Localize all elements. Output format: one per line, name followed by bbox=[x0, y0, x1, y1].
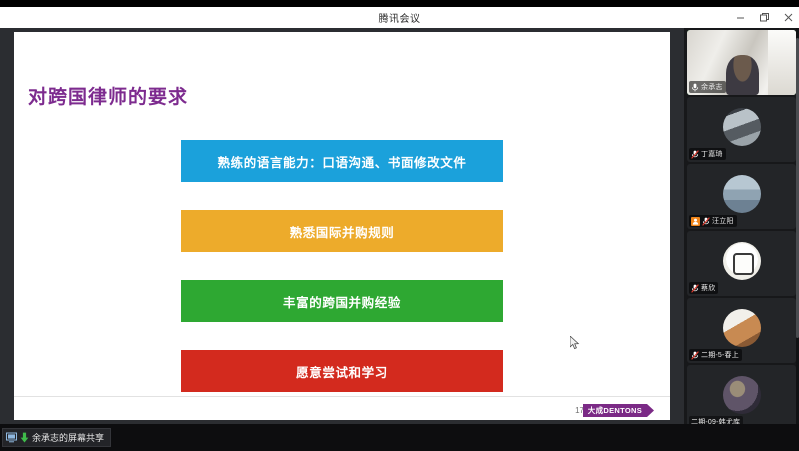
mouse-cursor bbox=[570, 336, 580, 351]
mic-muted-icon bbox=[702, 217, 710, 226]
slide-bar-list: 熟练的语言能力：口语沟通、书面修改文件 熟悉国际并购规则 丰富的跨国并购经验 愿… bbox=[181, 140, 503, 392]
slide-bar-1: 熟练的语言能力：口语沟通、书面修改文件 bbox=[181, 140, 503, 182]
slide-footer-divider bbox=[14, 396, 670, 397]
slide-bar-2-label: 熟悉国际并购规则 bbox=[290, 222, 395, 241]
close-icon[interactable] bbox=[782, 11, 795, 24]
slide-bar-4-label: 愿意尝试和学习 bbox=[296, 362, 388, 381]
participant-tile-4[interactable]: 蔡欣 bbox=[687, 231, 796, 296]
video-background bbox=[768, 30, 796, 95]
participant-avatar-3 bbox=[723, 175, 761, 213]
taskbar-item-label: 余承志的屏幕共享 bbox=[32, 431, 104, 444]
participant-name-chip-2: 丁嘉琦 bbox=[689, 148, 726, 160]
meeting-body: 对跨国律师的要求 熟练的语言能力：口语沟通、书面修改文件 熟悉国际并购规则 丰富… bbox=[0, 28, 799, 424]
os-taskbar: 余承志的屏幕共享 bbox=[0, 424, 799, 451]
participant-name-chip-1: 余承志 bbox=[689, 81, 726, 93]
shared-screen-area[interactable]: 对跨国律师的要求 熟练的语言能力：口语沟通、书面修改文件 熟悉国际并购规则 丰富… bbox=[0, 28, 684, 424]
mic-muted-icon bbox=[691, 150, 699, 159]
participant-name-chip-4: 蔡欣 bbox=[689, 282, 718, 294]
slide-bar-1-label: 熟练的语言能力：口语沟通、书面修改文件 bbox=[218, 152, 467, 171]
taskbar-item-screenshare[interactable]: 余承志的屏幕共享 bbox=[2, 428, 111, 447]
participant-tile-6[interactable]: 二期-09-韩尤库 bbox=[687, 365, 796, 424]
host-badge-icon bbox=[691, 217, 700, 226]
participant-name-3: 汪立阳 bbox=[712, 216, 734, 226]
participant-name-1: 余承志 bbox=[701, 82, 723, 92]
slide-bar-2: 熟悉国际并购规则 bbox=[181, 210, 503, 252]
participant-name-chip-3: 汪立阳 bbox=[689, 215, 737, 227]
slide-bar-4: 愿意尝试和学习 bbox=[181, 350, 503, 392]
participant-name-5: 二期-5-春上 bbox=[701, 350, 739, 360]
mic-muted-icon bbox=[691, 351, 699, 360]
participant-name-chip-6: 二期-09-韩尤库 bbox=[689, 416, 743, 424]
participant-tile-5[interactable]: 二期-5-春上 bbox=[687, 298, 796, 363]
participant-avatar-6 bbox=[723, 376, 761, 414]
screen-root: 腾讯会议 对跨国律师的要求 bbox=[0, 0, 799, 451]
slide-title: 对跨国律师的要求 bbox=[28, 82, 188, 109]
participant-tile-3[interactable]: 汪立阳 bbox=[687, 164, 796, 229]
share-arrow-icon bbox=[20, 432, 29, 443]
dentons-logo: 大成DENTONS bbox=[583, 404, 654, 417]
mic-muted-icon bbox=[691, 284, 699, 293]
mic-muted-icon bbox=[691, 83, 699, 92]
participant-avatar-2 bbox=[723, 108, 761, 146]
window-controls bbox=[734, 7, 795, 28]
window-titlebar: 腾讯会议 bbox=[0, 7, 799, 28]
participant-name-2: 丁嘉琦 bbox=[701, 149, 723, 159]
presentation-slide: 对跨国律师的要求 熟练的语言能力：口语沟通、书面修改文件 熟悉国际并购规则 丰富… bbox=[14, 32, 670, 420]
slide-page-number: 17 bbox=[575, 406, 584, 415]
participant-name-6: 二期-09-韩尤库 bbox=[691, 417, 740, 424]
participant-tile-1[interactable]: 余承志 bbox=[687, 30, 796, 95]
participant-name-chip-5: 二期-5-春上 bbox=[689, 349, 742, 361]
slide-bar-3-label: 丰富的跨国并购经验 bbox=[283, 292, 401, 311]
minimize-icon[interactable] bbox=[734, 11, 747, 24]
participant-avatar-4 bbox=[723, 242, 761, 280]
restore-icon[interactable] bbox=[758, 11, 771, 24]
participant-rail[interactable]: 余承志 丁嘉琦 bbox=[684, 28, 799, 424]
participant-avatar-5 bbox=[723, 309, 761, 347]
participant-tile-2[interactable]: 丁嘉琦 bbox=[687, 97, 796, 162]
video-person bbox=[726, 55, 759, 95]
participant-name-4: 蔡欣 bbox=[701, 283, 715, 293]
slide-bar-3: 丰富的跨国并购经验 bbox=[181, 280, 503, 322]
window-title: 腾讯会议 bbox=[379, 10, 421, 25]
monitor-icon bbox=[6, 432, 17, 443]
